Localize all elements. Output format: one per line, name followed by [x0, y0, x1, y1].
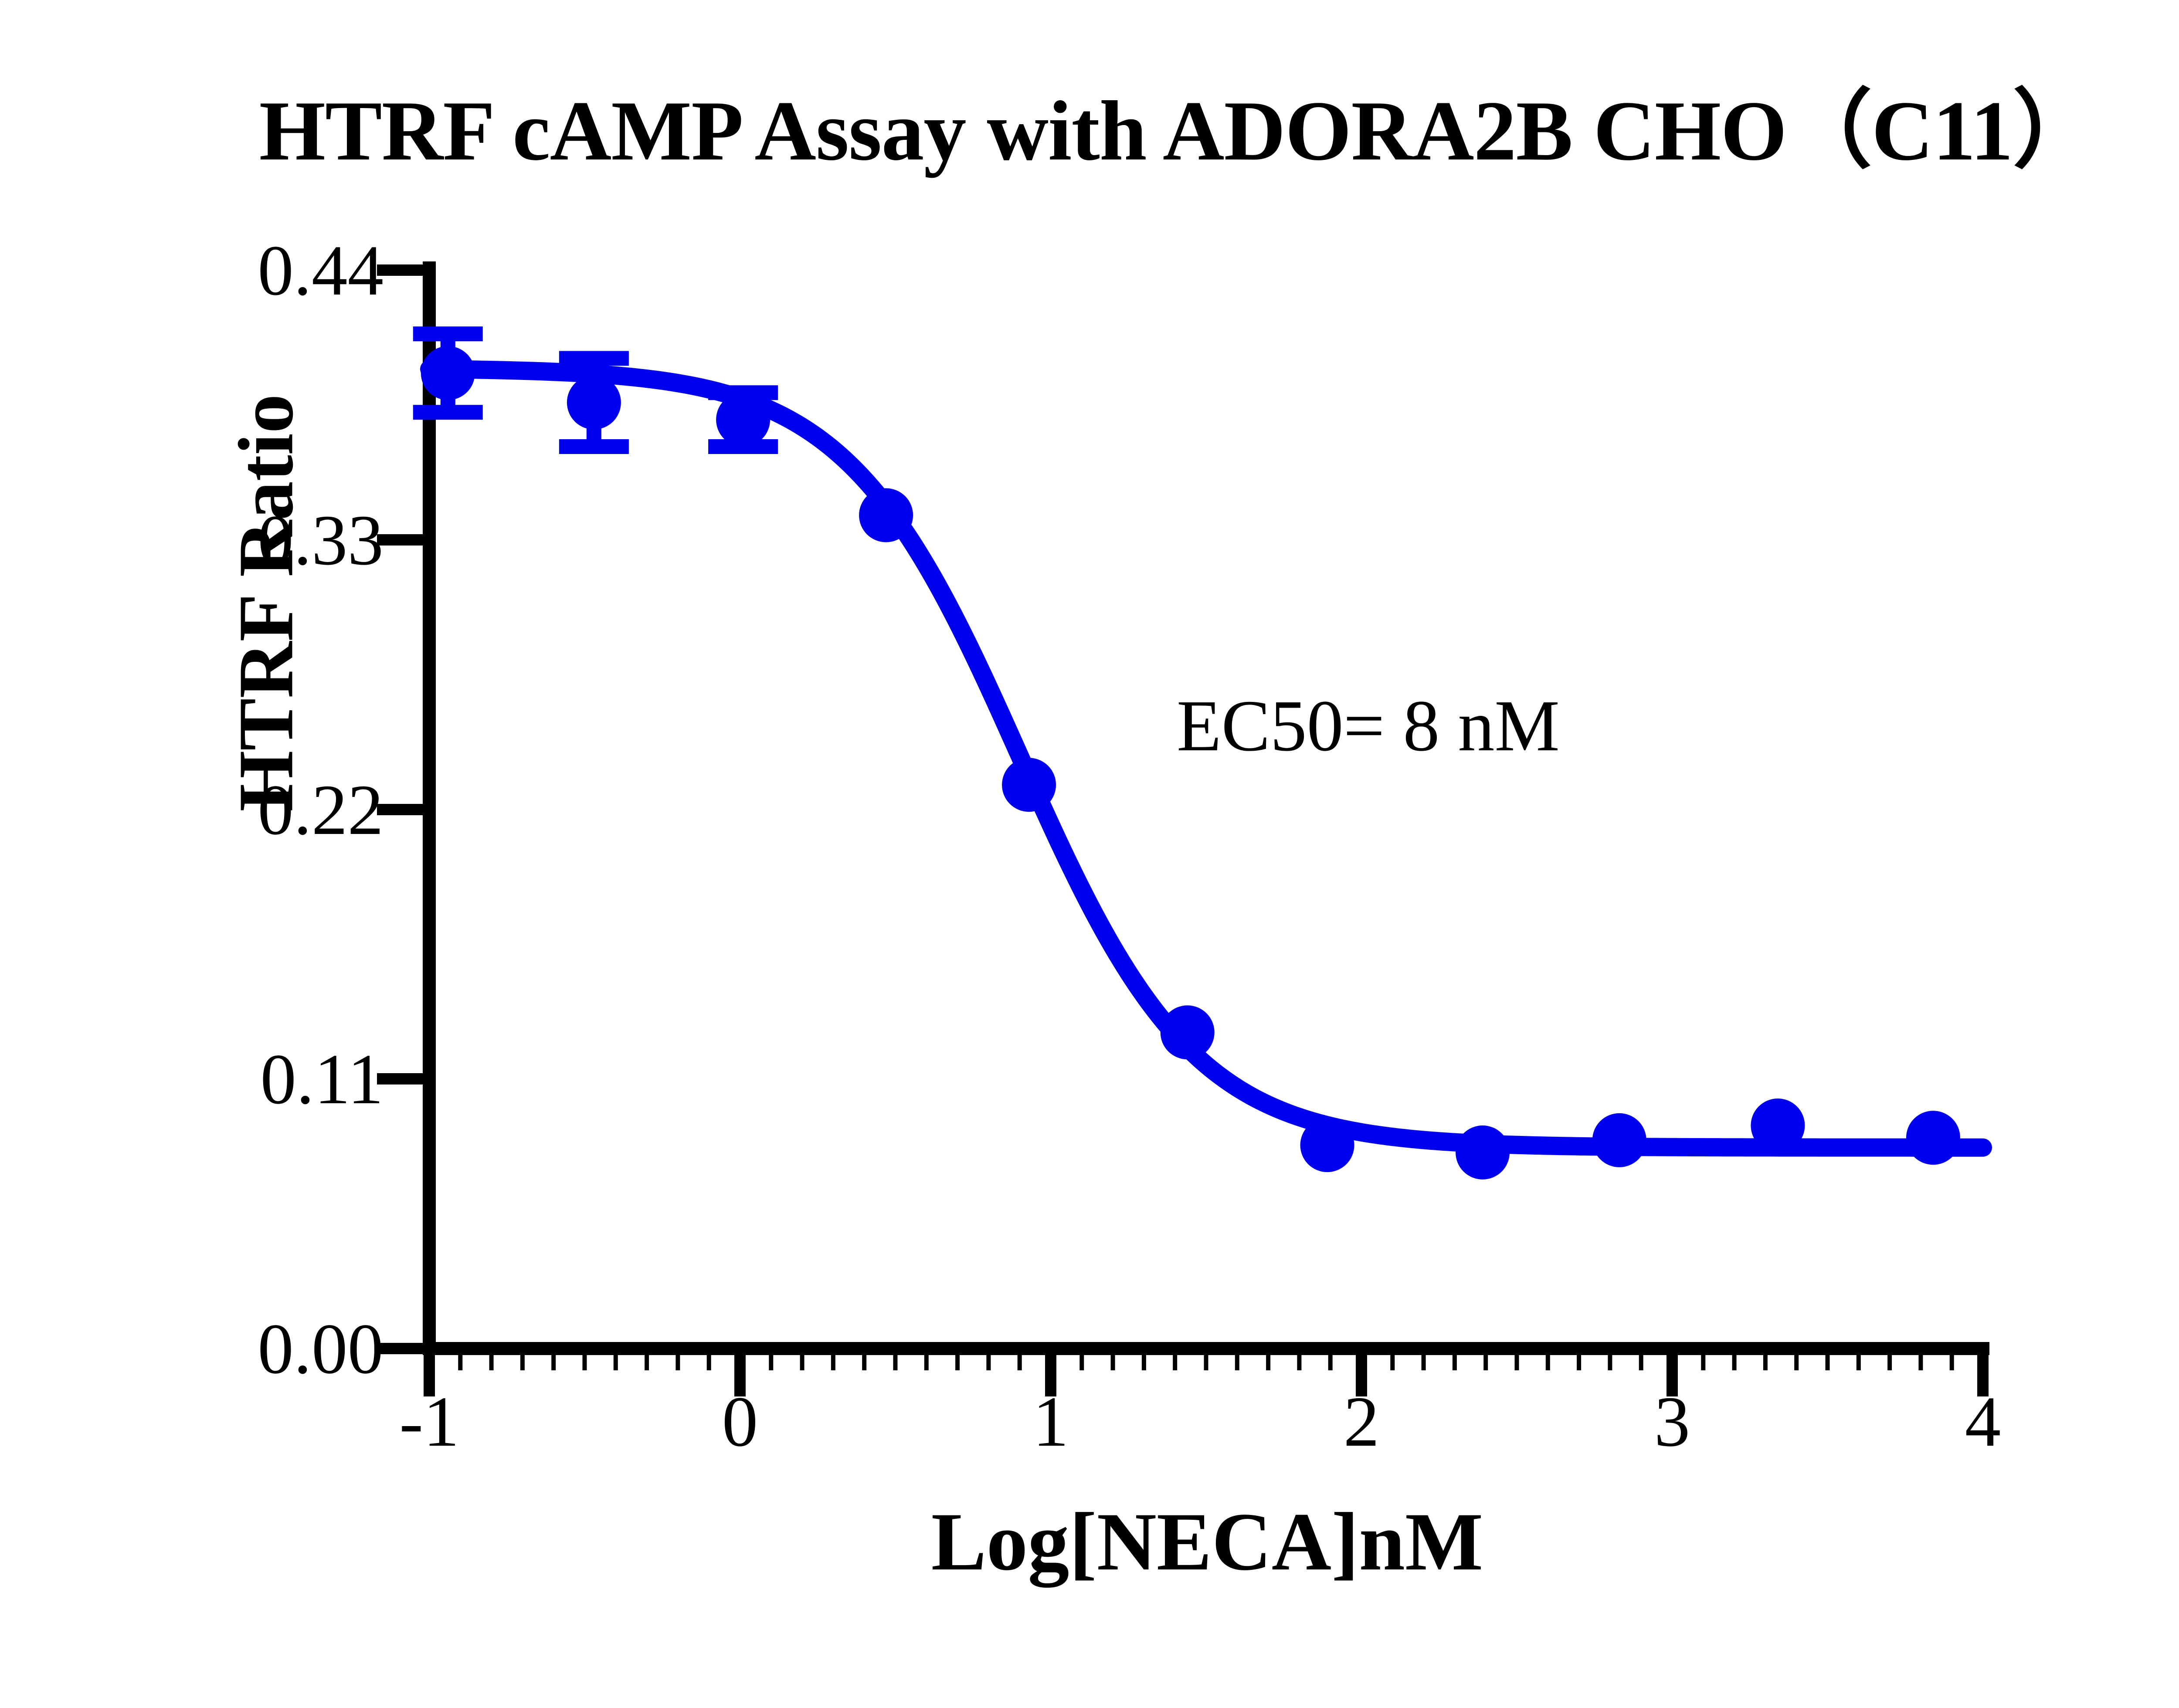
plot-canvas	[0, 0, 2179, 1708]
data-point-marker	[567, 376, 621, 430]
axis-lines	[423, 261, 1989, 1355]
data-point-marker	[1592, 1113, 1646, 1167]
data-point-marker	[1161, 1005, 1215, 1059]
chart-figure: HTRF cAMP Assay with ADORA2B CHO（C11） HT…	[0, 0, 2179, 1708]
data-point-marker	[1751, 1098, 1805, 1152]
data-point-markers	[421, 346, 1960, 1179]
data-point-marker	[1906, 1111, 1960, 1165]
data-point-marker	[859, 488, 913, 542]
data-point-marker	[716, 393, 770, 447]
data-point-marker	[1002, 758, 1056, 812]
data-point-marker	[1300, 1118, 1354, 1172]
data-point-marker	[421, 346, 475, 400]
data-point-marker	[1456, 1125, 1510, 1179]
y-major-tick-group	[377, 270, 429, 1349]
